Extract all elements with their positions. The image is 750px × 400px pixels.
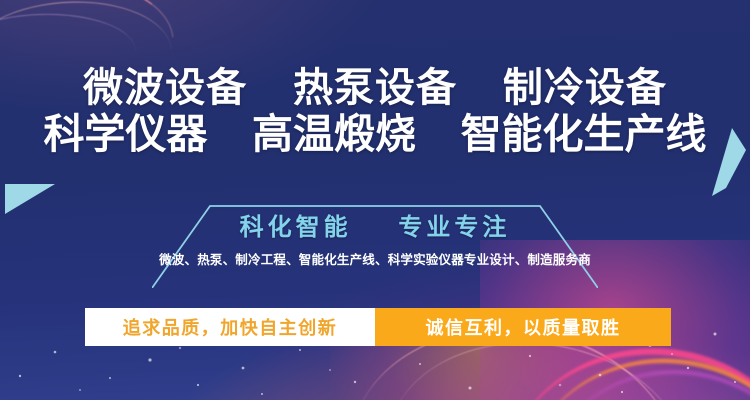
left-triangle-icon bbox=[5, 184, 55, 214]
headline-word-6: 智能化生产线 bbox=[461, 110, 707, 158]
headline-word-3: 制冷设备 bbox=[503, 65, 667, 111]
headline-line-1: 微波设备 热泵设备 制冷设备 bbox=[0, 66, 750, 111]
slogan-left: 科化智能 bbox=[240, 213, 352, 241]
middle-slogan-block: 科化智能 专业专注 微波、热泵、制冷工程、智能化生产线、科学实验仪器专业设计、制… bbox=[0, 212, 750, 268]
headline-word-5: 高温煅烧 bbox=[252, 110, 416, 158]
promo-banner: 微波设备 热泵设备 制冷设备 科学仪器 高温煅烧 智能化生产线 科化智能 专业专… bbox=[0, 0, 750, 400]
top-left-light-streak bbox=[0, 0, 173, 66]
headline-line-2: 科学仪器 高温煅烧 智能化生产线 bbox=[0, 111, 750, 157]
headline-block: 微波设备 热泵设备 制冷设备 科学仪器 高温煅烧 智能化生产线 bbox=[0, 66, 750, 158]
top-left-light-streak-2 bbox=[0, 0, 172, 65]
headline-word-1: 微波设备 bbox=[83, 65, 247, 111]
slogan-right: 专业专注 bbox=[398, 213, 510, 241]
cta-button-row: 追求品质，加快自主创新 诚信互利，以质量取胜 bbox=[85, 308, 671, 346]
headline-word-4: 科学仪器 bbox=[43, 110, 207, 158]
headline-word-2: 热泵设备 bbox=[293, 65, 457, 111]
integrity-slogan-button[interactable]: 诚信互利，以质量取胜 bbox=[375, 308, 671, 346]
top-left-light-streak-3 bbox=[0, 11, 136, 58]
quality-slogan-button[interactable]: 追求品质，加快自主创新 bbox=[85, 308, 375, 346]
company-description: 微波、热泵、制冷工程、智能化生产线、科学实验仪器专业设计、制造服务商 bbox=[0, 249, 750, 268]
slogan-row: 科化智能 专业专注 bbox=[0, 212, 750, 242]
